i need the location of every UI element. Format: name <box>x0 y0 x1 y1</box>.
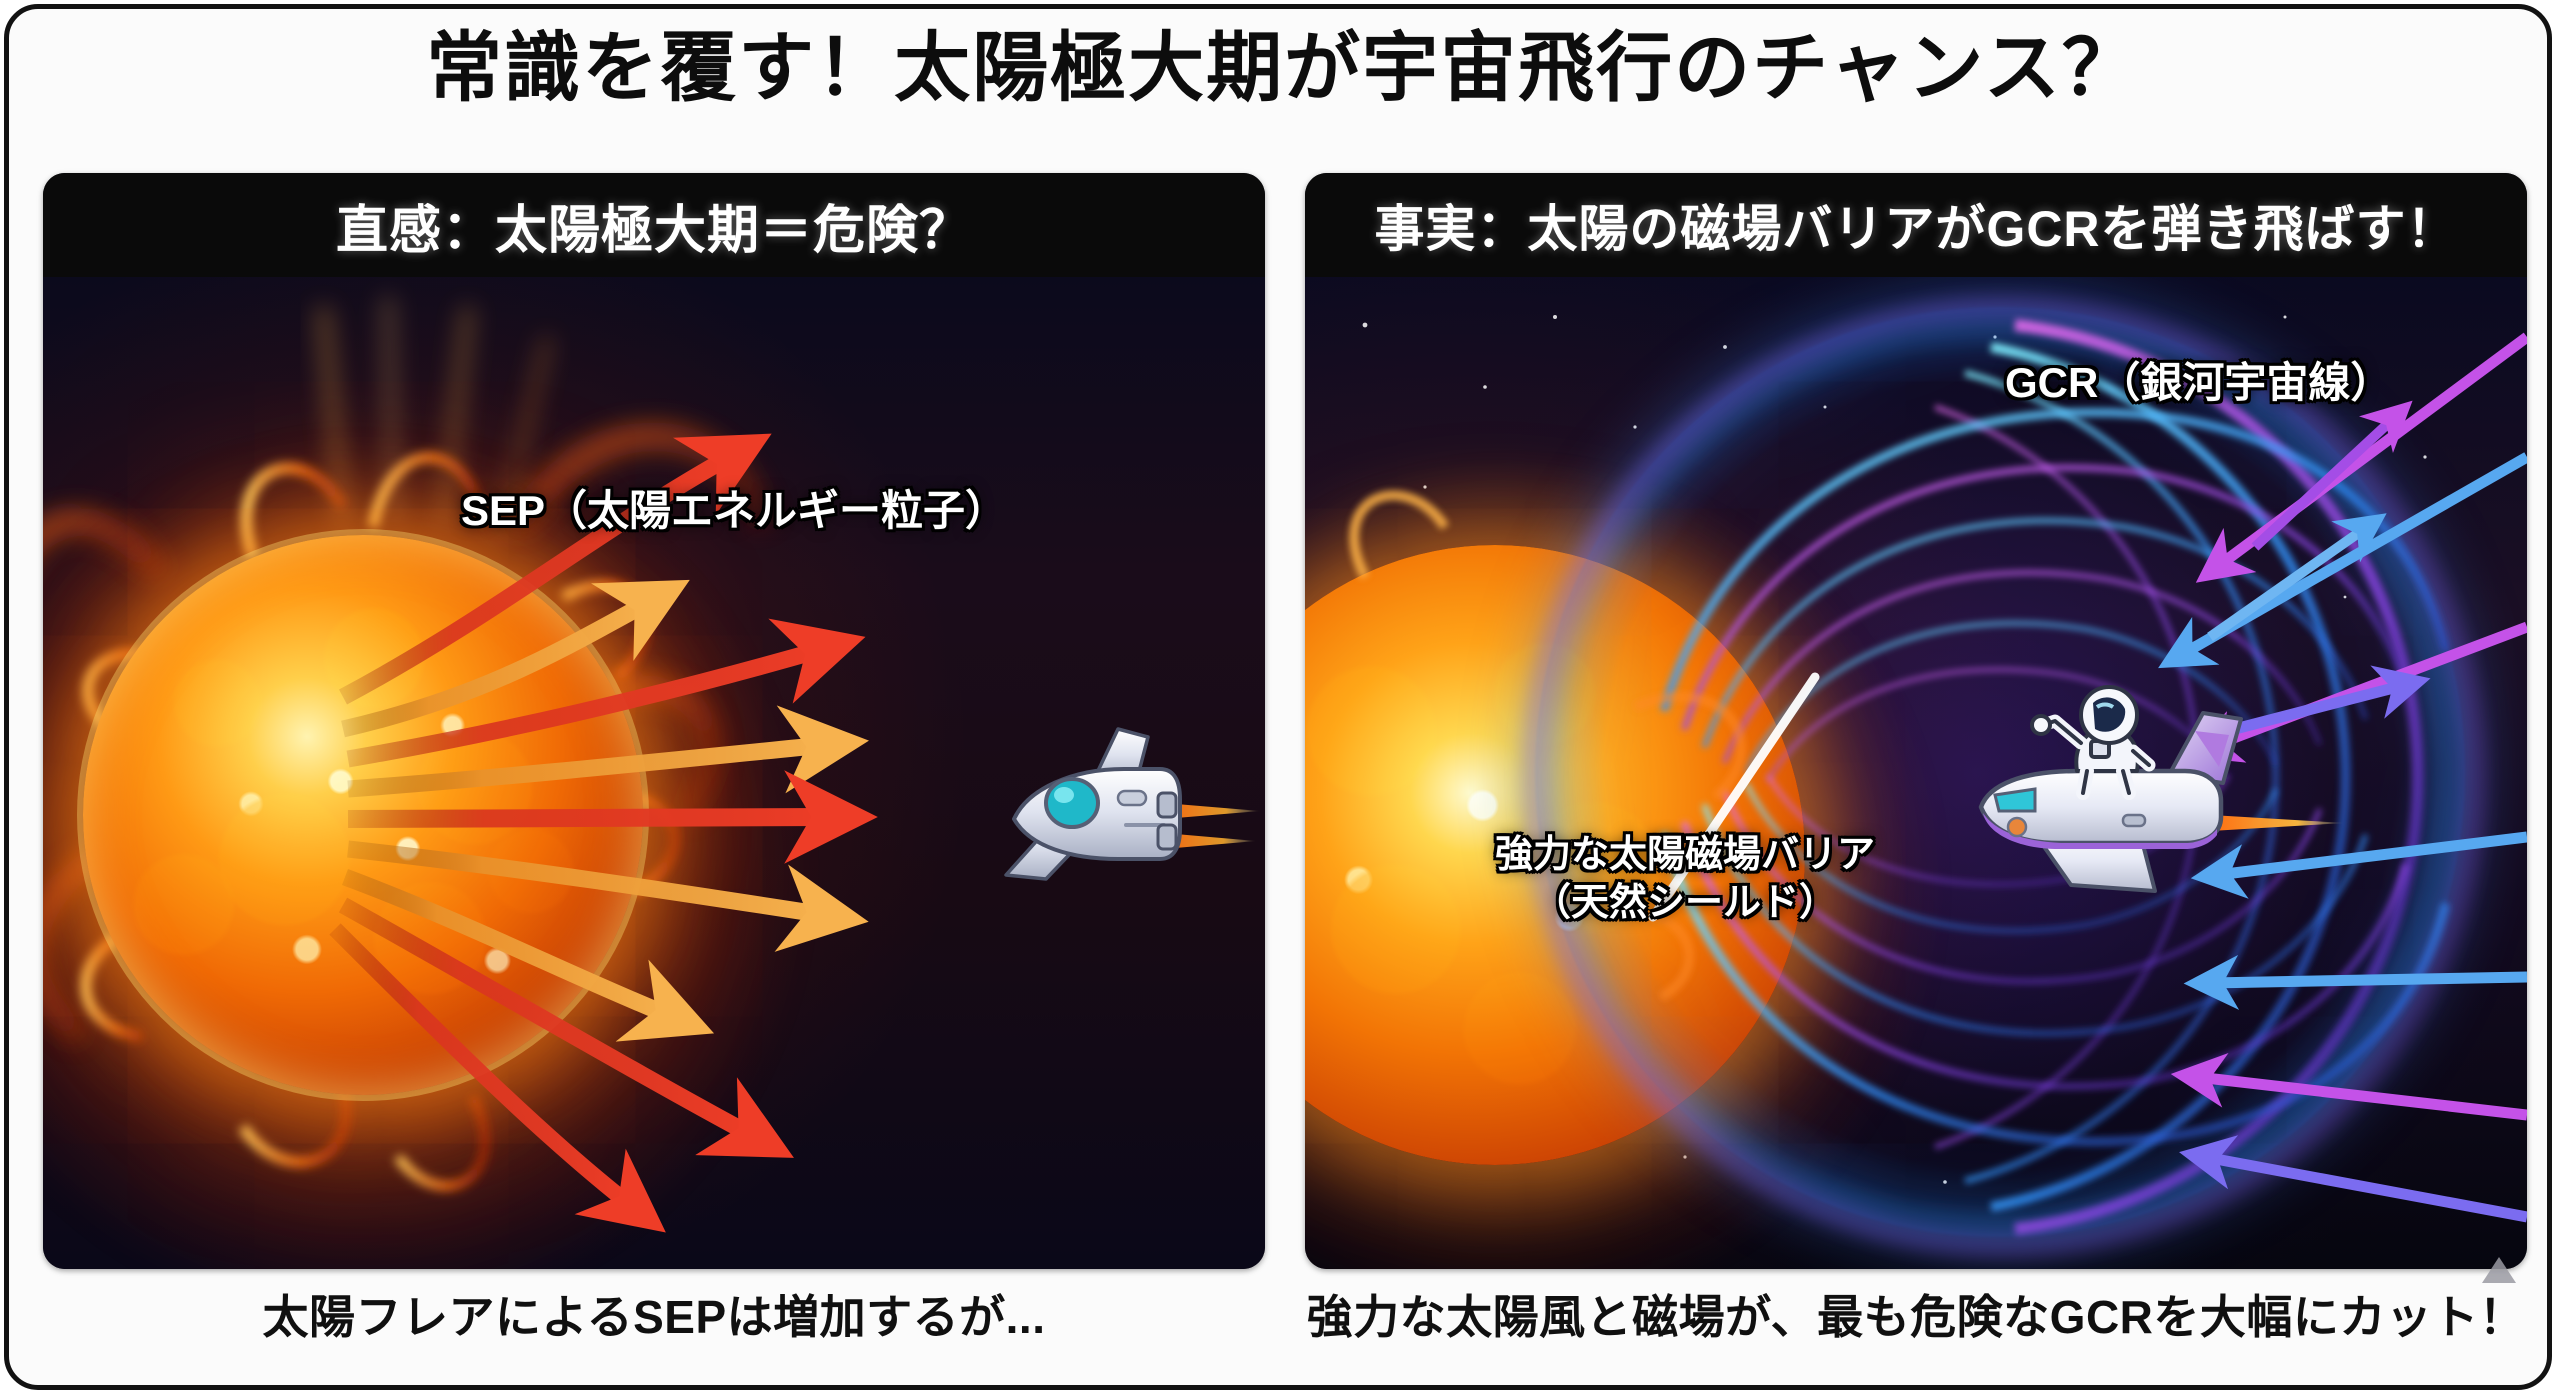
panel-intuition: 直感：太陽極大期＝危険？ <box>43 173 1265 1269</box>
barrier-label-line2: （天然シールド） <box>1495 880 1875 928</box>
panel-right-header-text: 事実：太陽の磁場バリアがGCRを弾き飛ばす！ <box>1374 189 2457 261</box>
panel-right-header: 事実：太陽の磁場バリアがGCRを弾き飛ばす！ <box>1305 173 2527 277</box>
barrier-leader-line <box>1305 277 2527 1269</box>
space-shuttle-left <box>968 707 1265 927</box>
infographic-card: 常識を覆す！太陽極大期が宇宙飛行のチャンス？ 直感：太陽極大期＝危険？ <box>4 4 2552 1390</box>
barrier-label-line1: 強力な太陽磁場バリア <box>1495 832 1875 880</box>
gcr-label: GCR（銀河宇宙線） <box>2005 349 2392 410</box>
barrier-label: 強力な太陽磁場バリア （天然シールド） <box>1495 832 1875 927</box>
panel-left-header: 直感：太陽極大期＝危険？ <box>43 173 1265 277</box>
panel-fact: 事実：太陽の磁場バリアがGCRを弾き飛ばす！ <box>1305 173 2527 1269</box>
caption-right: 強力な太陽風と磁場が、最も危険なGCRを大幅にカット！ <box>1305 1281 2527 1347</box>
right-scene: GCR（銀河宇宙線） 強力な太陽磁場バリア （天然シールド） <box>1305 277 2527 1269</box>
panel-left-header-text: 直感：太陽極大期＝危険？ <box>336 188 972 263</box>
page-title: 常識を覆す！太陽極大期が宇宙飛行のチャンス？ <box>9 27 2552 111</box>
sep-label: SEP（太陽エネルギー粒子） <box>461 477 1007 538</box>
caption-left: 太陽フレアによるSEPは増加するが... <box>43 1281 1265 1347</box>
left-scene: SEP（太陽エネルギー粒子） <box>43 277 1265 1269</box>
